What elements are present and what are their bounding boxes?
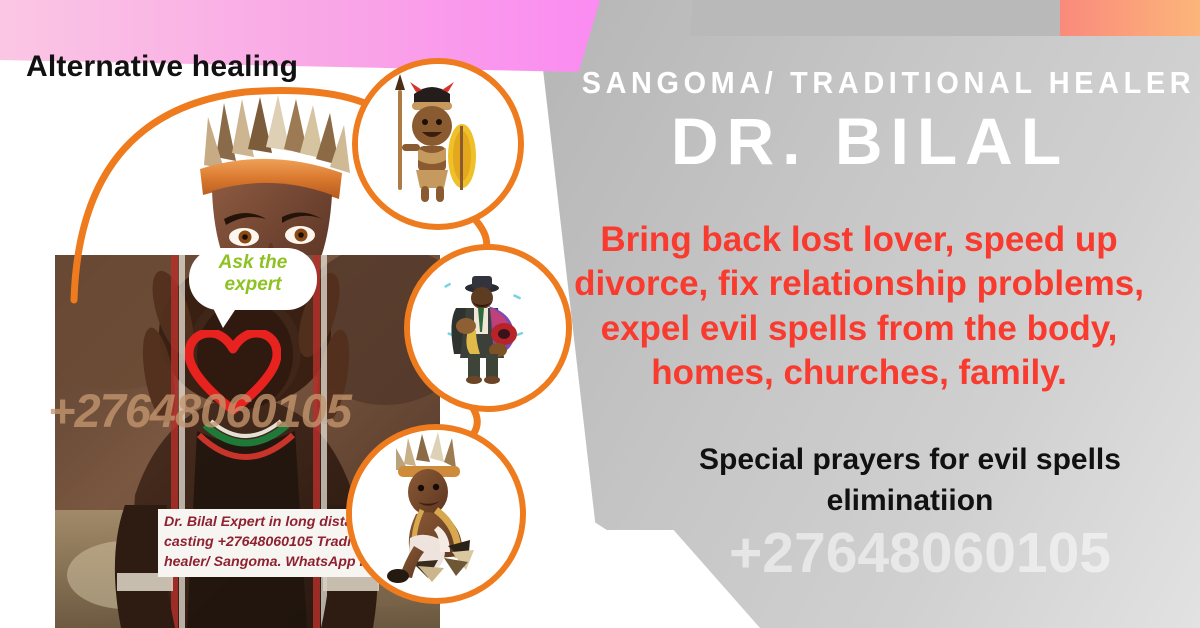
doctor-name-heading: DR. BILAL bbox=[560, 104, 1180, 180]
advertisement-poster: Alternative healing bbox=[0, 0, 1200, 628]
special-prayers-text: Special prayers for evil spells eliminat… bbox=[630, 440, 1190, 521]
services-description: Bring back lost lover, speed up divorce,… bbox=[535, 218, 1183, 396]
circle-zulu-warrior bbox=[352, 58, 524, 230]
top-salmon-bar bbox=[1060, 0, 1200, 36]
kicker-heading: SANGOMA/ TRADITIONAL HEALER bbox=[582, 66, 1159, 100]
circle-crouching-sangoma bbox=[346, 424, 526, 604]
right-phone-watermark: +27648060105 bbox=[640, 520, 1200, 586]
ask-the-expert-label: Ask the expert bbox=[194, 252, 312, 297]
alternative-healing-heading: Alternative healing bbox=[26, 50, 298, 84]
